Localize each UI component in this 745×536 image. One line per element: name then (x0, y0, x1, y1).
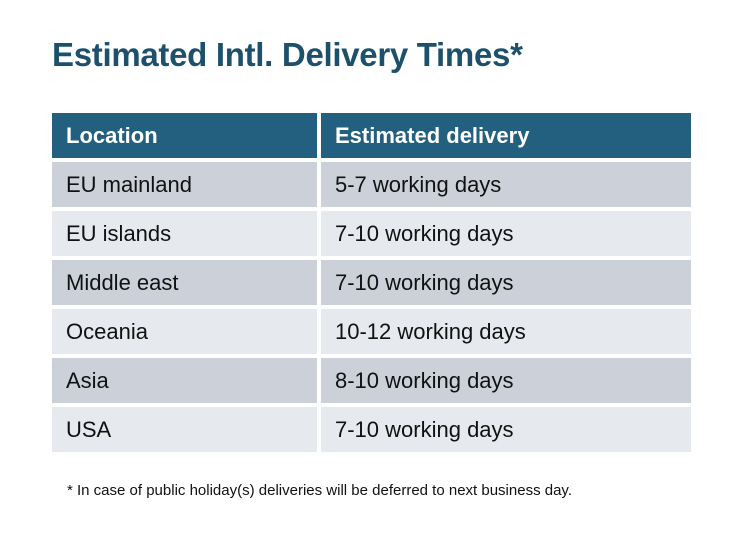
table-row: Asia 8-10 working days (52, 358, 691, 403)
cell-estimated-delivery: 5-7 working days (321, 162, 691, 207)
cell-estimated-delivery: 8-10 working days (321, 358, 691, 403)
cell-location: EU mainland (52, 162, 317, 207)
table-row: Oceania 10-12 working days (52, 309, 691, 354)
cell-location: EU islands (52, 211, 317, 256)
column-header-location: Location (52, 113, 317, 158)
table-row: Middle east 7-10 working days (52, 260, 691, 305)
cell-estimated-delivery: 7-10 working days (321, 407, 691, 452)
delivery-times-table: Location Estimated delivery EU mainland … (52, 113, 691, 452)
table-header-row: Location Estimated delivery (52, 113, 691, 158)
table-row: EU mainland 5-7 working days (52, 162, 691, 207)
cell-location: USA (52, 407, 317, 452)
page-title: Estimated Intl. Delivery Times* (52, 36, 523, 74)
cell-estimated-delivery: 7-10 working days (321, 211, 691, 256)
cell-estimated-delivery: 10-12 working days (321, 309, 691, 354)
footnote-text: * In case of public holiday(s) deliverie… (67, 482, 572, 499)
cell-location: Oceania (52, 309, 317, 354)
cell-estimated-delivery: 7-10 working days (321, 260, 691, 305)
column-header-estimated-delivery: Estimated delivery (321, 113, 691, 158)
delivery-times-page: Estimated Intl. Delivery Times* Location… (0, 0, 745, 536)
table-row: USA 7-10 working days (52, 407, 691, 452)
table-row: EU islands 7-10 working days (52, 211, 691, 256)
cell-location: Middle east (52, 260, 317, 305)
cell-location: Asia (52, 358, 317, 403)
